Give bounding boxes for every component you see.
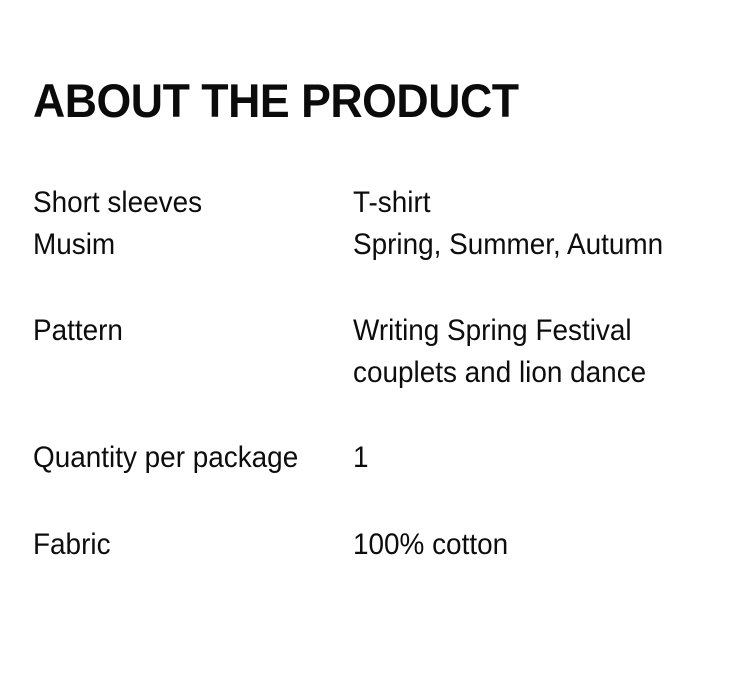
spec-value: Writing Spring Festival couplets and lio… [353,310,669,394]
spec-label: Fabric [33,524,331,566]
spec-value: Spring, Summer, Autumn [353,224,669,266]
spec-label: Musim [33,224,331,266]
spec-value: 1 [353,437,669,479]
product-info-panel: ABOUT THE PRODUCT Short sleeves T-shirt … [0,0,750,675]
page-title: ABOUT THE PRODUCT [33,76,519,126]
spec-row-pattern: Pattern Writing Spring Festival couplets… [33,310,733,394]
spec-value: 100% cotton [353,524,669,566]
spec-label: Short sleeves [33,182,331,224]
spec-row-musim: Musim Spring, Summer, Autumn [33,224,733,266]
spec-label: Pattern [33,310,331,352]
spec-row-short-sleeves: Short sleeves T-shirt [33,182,733,224]
spec-row-fabric: Fabric 100% cotton [33,524,733,566]
spec-label: Quantity per package [33,437,331,479]
spec-row-quantity-per-package: Quantity per package 1 [33,437,733,479]
spec-value: T-shirt [353,182,669,224]
